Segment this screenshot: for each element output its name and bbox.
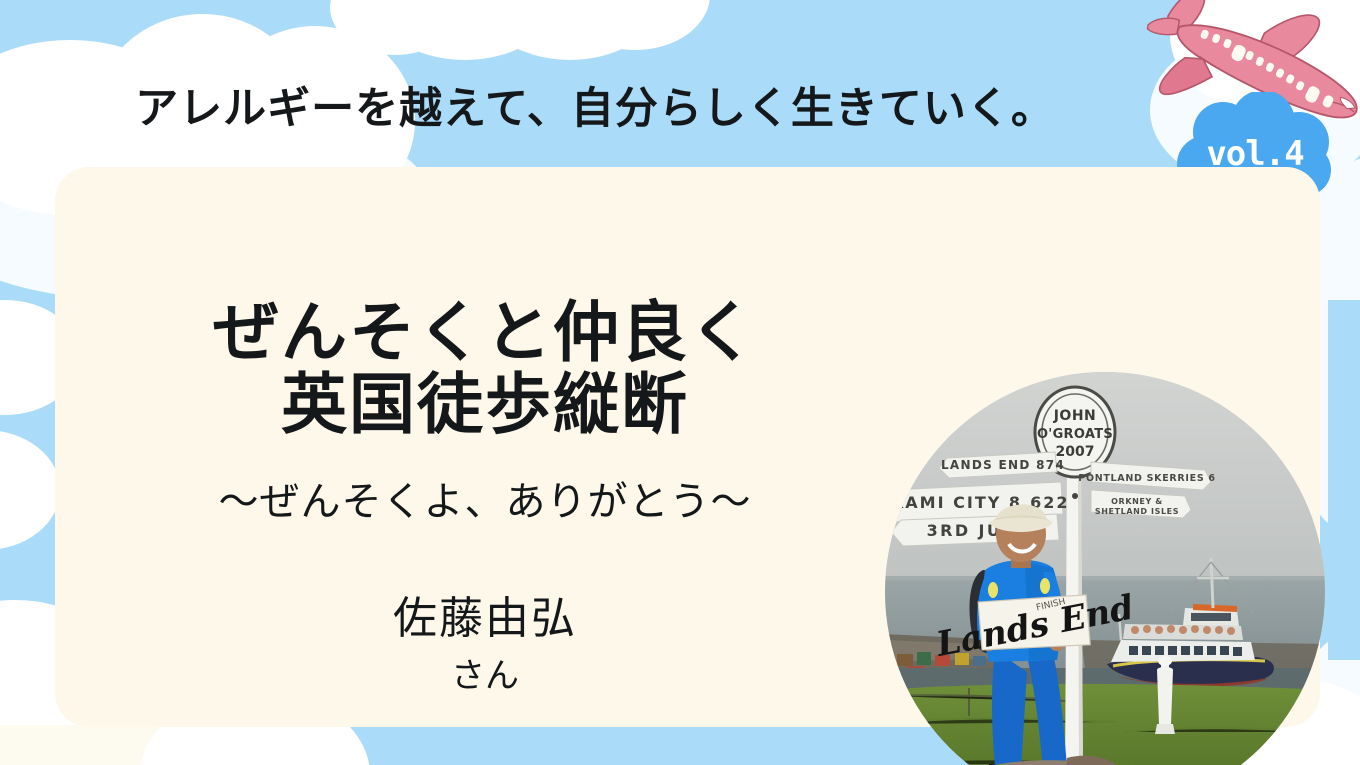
svg-text:LANDS END 874: LANDS END 874 [941,458,1065,472]
svg-text:PONTLAND SKERRIES 6: PONTLAND SKERRIES 6 [1078,473,1215,484]
author-honorific: さん [135,648,835,697]
svg-text:ORKNEY &: ORKNEY & [1111,497,1163,506]
svg-text:SHETLAND ISLES: SHETLAND ISLES [1095,507,1179,516]
page-headline: アレルギーを越えて、自分らしく生きていく。 [0,74,1190,136]
svg-text:O'GROATS: O'GROATS [1037,427,1113,442]
author-name: 佐藤由弘 [135,582,835,646]
poster-canvas: アレルギーを越えて、自分らしく生きていく。 [0,0,1360,765]
title-block: ぜんそくと仲良く 英国徒歩縦断 〜ぜんそくよ、ありがとう〜 [135,297,835,527]
profile-photo: JOHN O'GROATS 2007 LANDS END 874 PONTLAN… [885,372,1325,765]
subtitle: 〜ぜんそくよ、ありがとう〜 [135,469,835,527]
sky-band-right [1328,300,1360,660]
svg-text:JOHN: JOHN [1053,408,1097,424]
content-card: ぜんそくと仲良く 英国徒歩縦断 〜ぜんそくよ、ありがとう〜 佐藤由弘 さん [55,167,1320,727]
author-block: 佐藤由弘 さん [135,582,835,697]
title-line-1: ぜんそくと仲良く [135,297,835,369]
title-line-2: 英国徒歩縦断 [135,369,835,441]
cloud-shape [0,430,60,550]
svg-text:AKAMI CITY 8.622: AKAMI CITY 8.622 [885,493,1069,512]
